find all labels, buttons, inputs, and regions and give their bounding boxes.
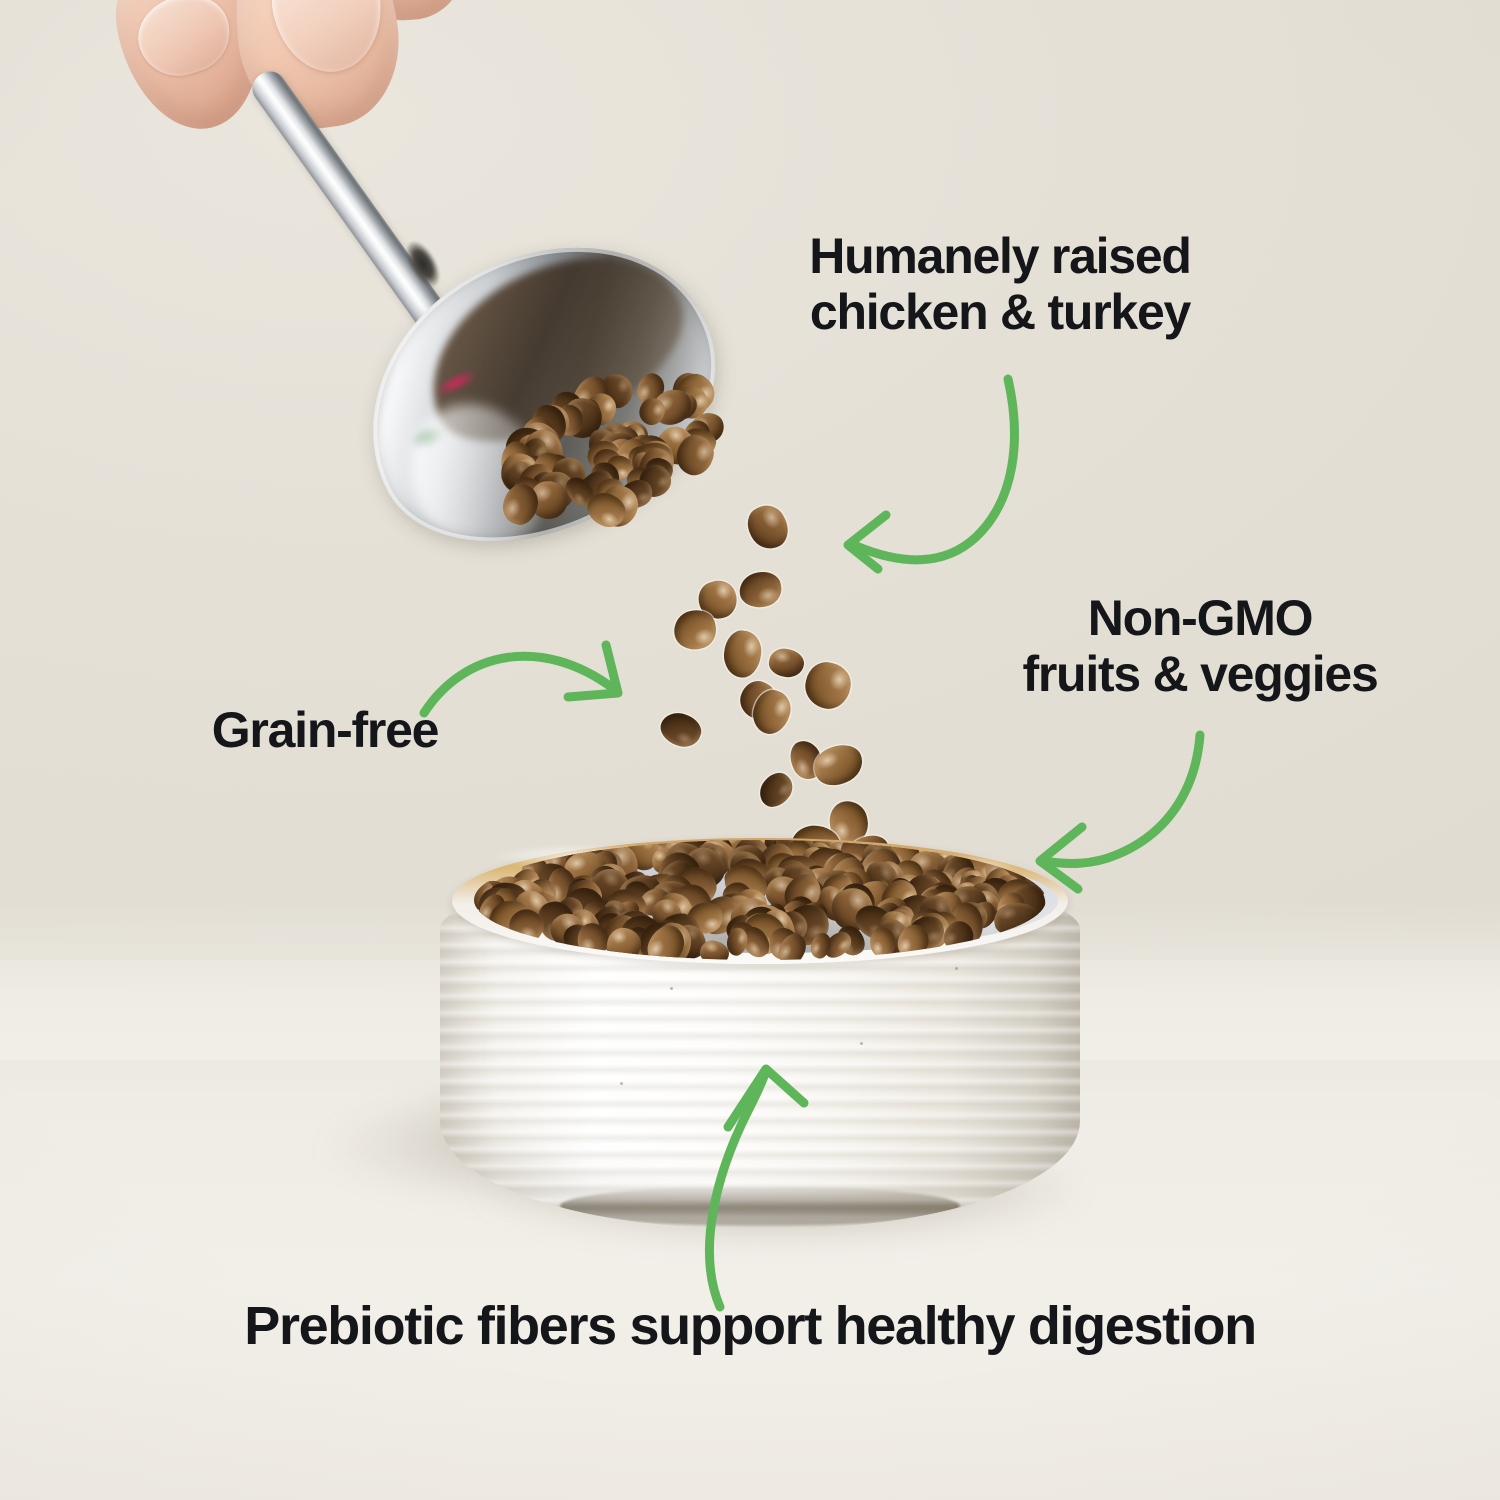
curved-arrow-down-left-icon-2: [1020, 715, 1260, 890]
curved-arrow-right-icon: [410, 615, 650, 735]
callout-label-chicken: Humanely raised chicken & turkey: [700, 228, 1300, 340]
kibble-piece: [753, 767, 798, 813]
kibble-piece: [736, 569, 784, 611]
product-infographic-image: Humanely raised chicken & turkey Non-GMO…: [0, 0, 1500, 1500]
kibble-piece: [766, 646, 805, 680]
curved-arrow-up-icon: [680, 1055, 860, 1315]
kibble-piece: [741, 499, 795, 555]
kibble-piece: [801, 659, 855, 713]
callout-label-non-gmo: Non-GMO fruits & veggies: [930, 590, 1470, 702]
kibble-piece: [656, 708, 706, 752]
kibble-piece: [808, 738, 867, 791]
curved-arrow-down-left-icon: [790, 355, 1030, 570]
kibble-piece: [722, 628, 763, 679]
